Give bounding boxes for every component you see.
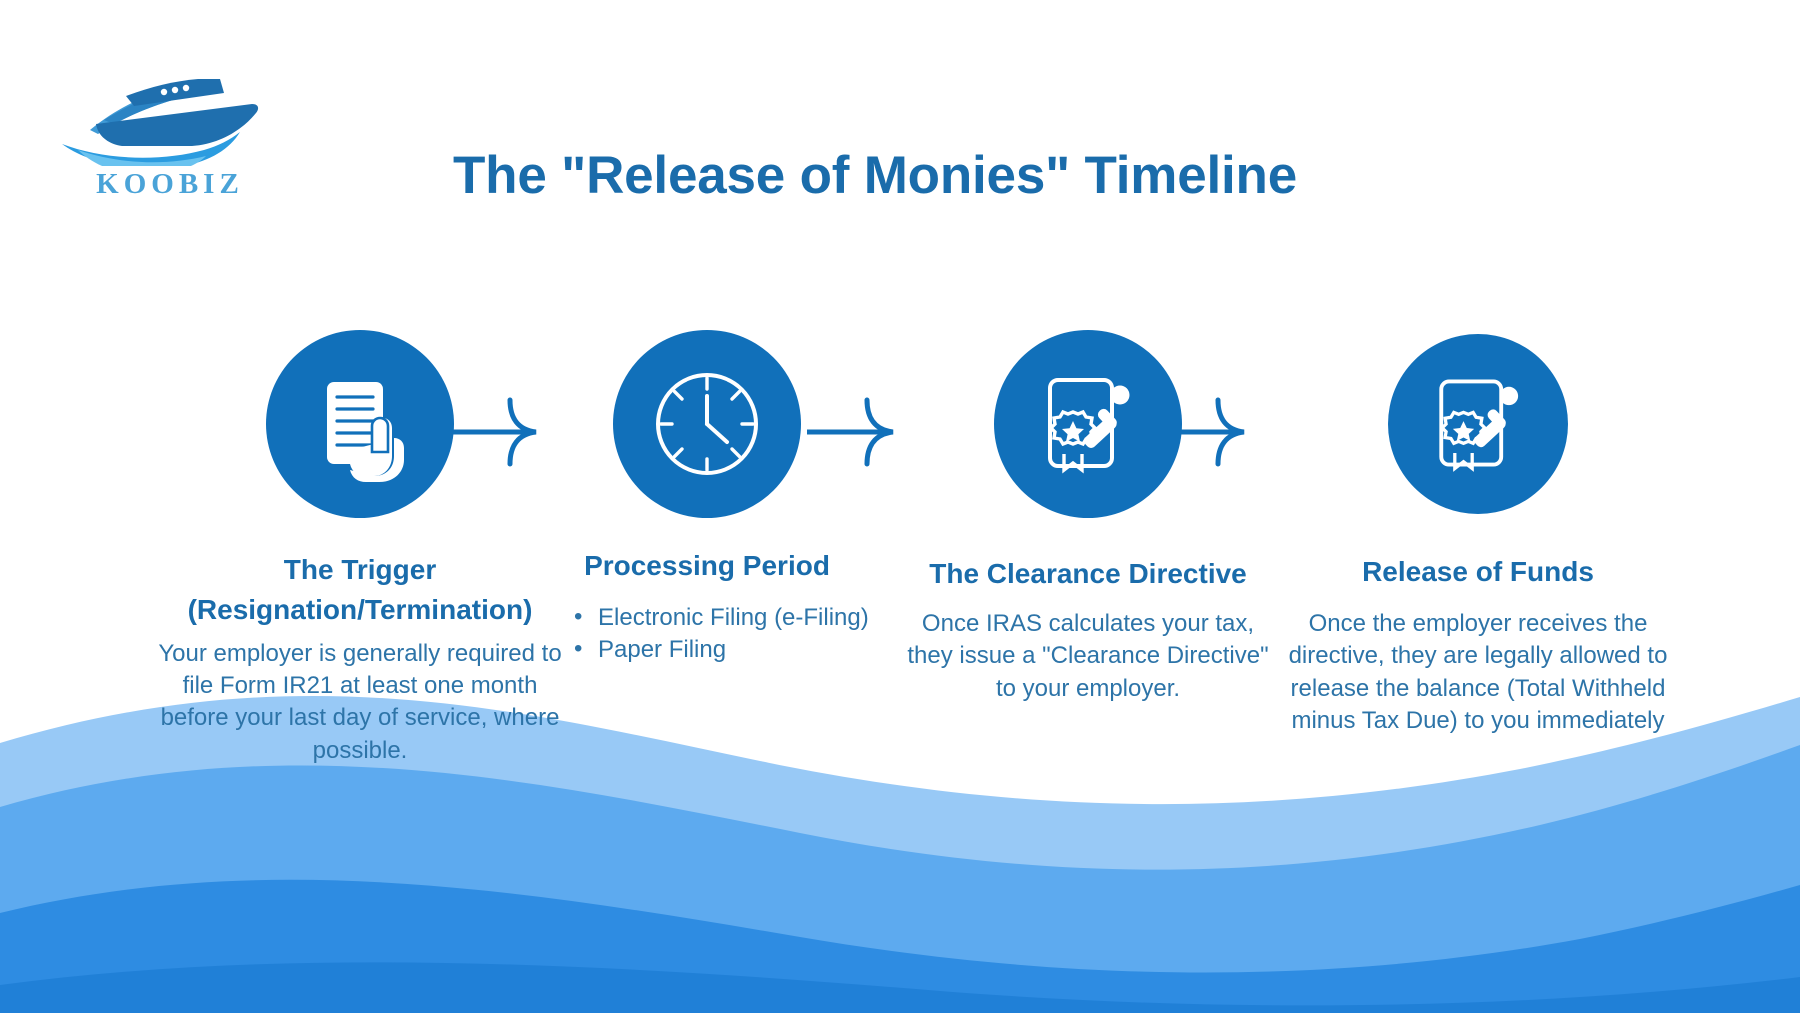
step-2-title: Processing Period	[542, 546, 872, 586]
curved-right-arrow-icon-3	[1156, 392, 1264, 472]
certificate-stamp-icon	[1028, 364, 1148, 484]
step-4-body: Once the employer receives the directive…	[1278, 608, 1678, 738]
curved-right-arrow-icon-1	[448, 392, 556, 472]
step-3-body: Once IRAS calculates your tax, they issu…	[898, 608, 1278, 705]
clock-icon	[645, 362, 769, 486]
step-1-title: The Trigger (Resignation/Termination)	[150, 550, 570, 630]
slide-canvas: KOOBIZ The "Release of Monies" Timeline	[0, 0, 1800, 1013]
step-3-title: The Clearance Directive	[898, 554, 1278, 594]
step-1-body: Your employer is generally required to f…	[150, 638, 570, 768]
timeline-step-2[interactable]: Processing Period Electronic Filing (e-F…	[542, 330, 872, 666]
step-1-icon-circle	[266, 330, 454, 518]
step-4-title: Release of Funds	[1278, 552, 1678, 592]
curved-right-arrow-icon-2	[805, 392, 913, 472]
list-item: Electronic Filing (e-Filing)	[572, 602, 872, 634]
list-item: Paper Filing	[572, 634, 872, 666]
timeline-step-4[interactable]: Release of Funds Once the employer recei…	[1278, 330, 1678, 737]
page-title: The "Release of Monies" Timeline	[330, 145, 1420, 206]
timeline-step-3[interactable]: The Clearance Directive Once IRAS calcul…	[898, 330, 1278, 705]
step-4-icon-circle	[1388, 334, 1568, 514]
brand-wordmark: KOOBIZ	[52, 168, 282, 201]
cruise-ship-logo-icon	[52, 66, 282, 166]
certificate-stamp-icon	[1420, 366, 1536, 482]
timeline-flow: The Trigger (Resignation/Termination) Yo…	[150, 330, 1680, 890]
step-2-icon-circle	[613, 330, 801, 518]
brand-logo: KOOBIZ	[52, 66, 282, 206]
step-2-list: Electronic Filing (e-Filing) Paper Filin…	[542, 602, 872, 666]
document-with-pointing-hand-icon	[300, 364, 420, 484]
step-3-icon-circle	[994, 330, 1182, 518]
